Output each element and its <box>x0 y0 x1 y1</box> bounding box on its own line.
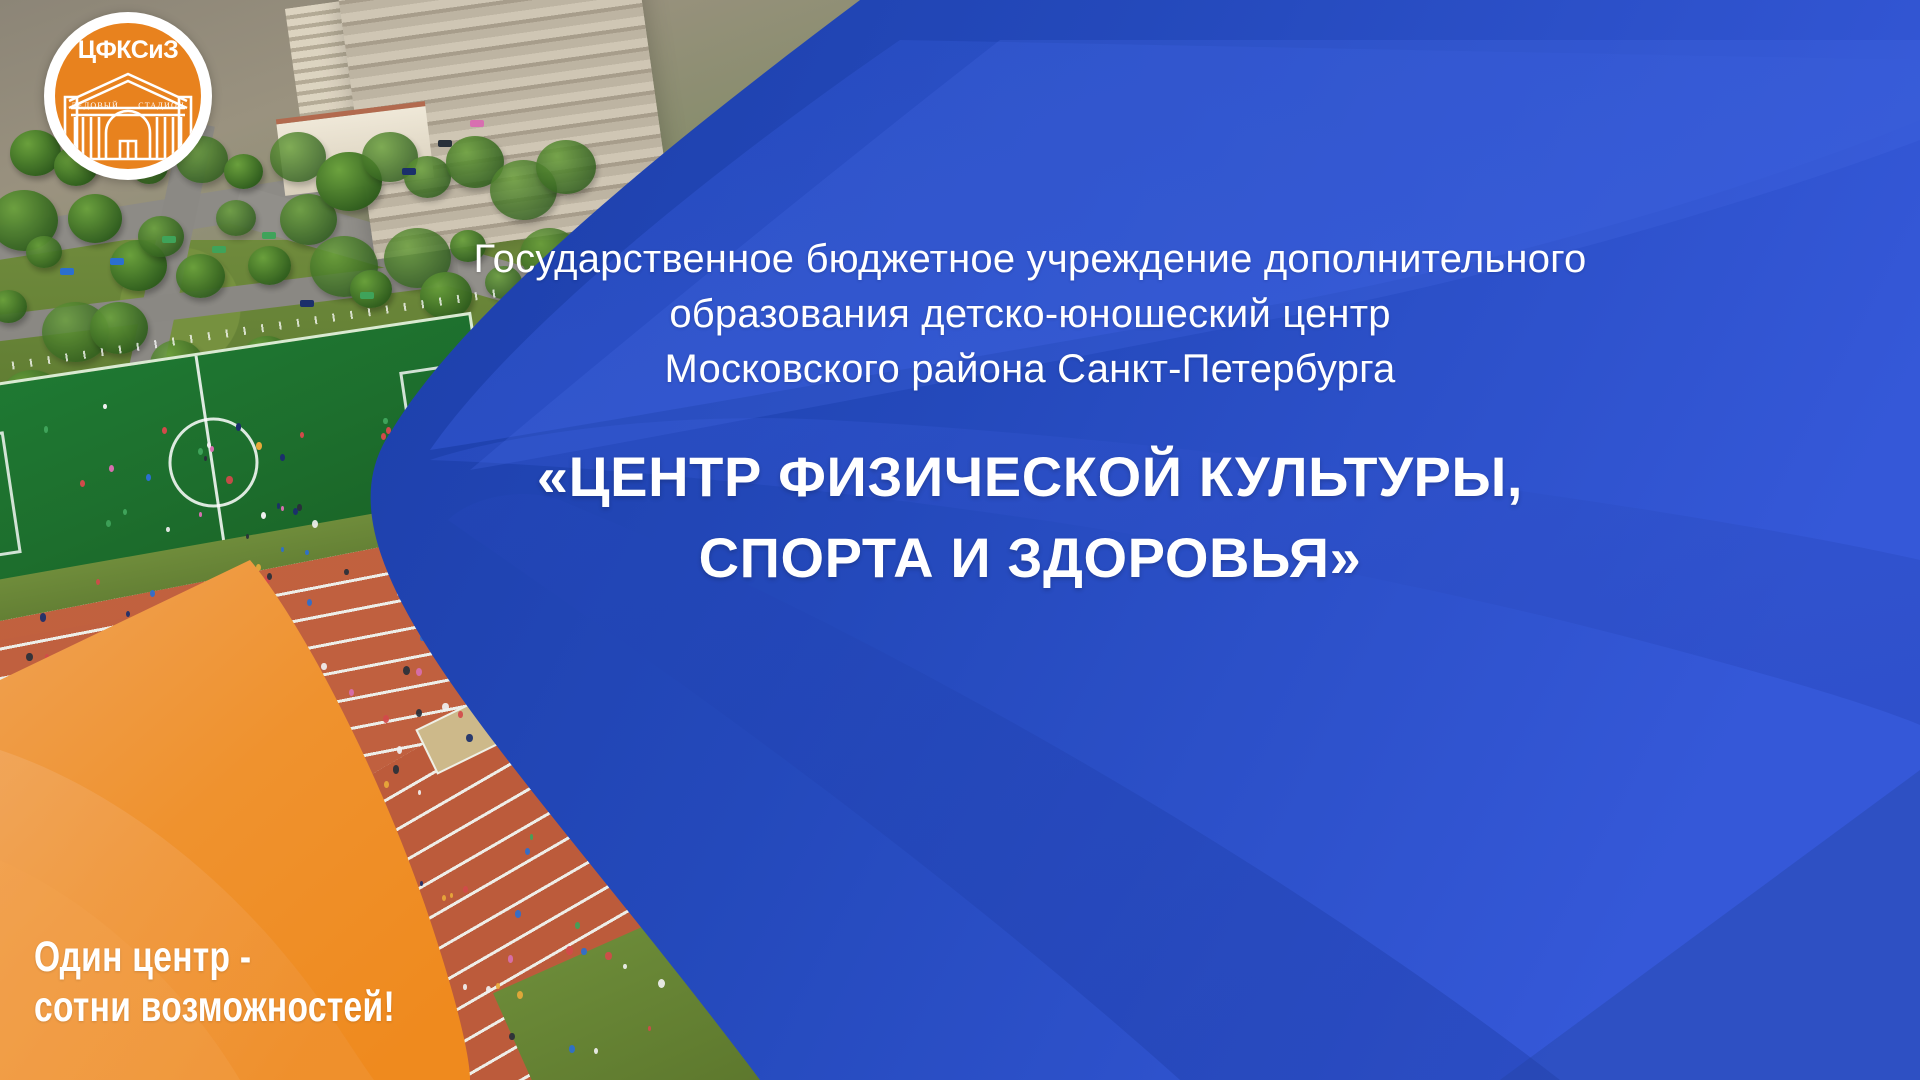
tagline-line-2: сотни возможностей! <box>34 983 395 1032</box>
stadium-building-icon <box>61 67 195 165</box>
title-line-2: СПОРТА И ЗДОРОВЬЯ» <box>430 517 1630 599</box>
logo-circle: ЦФКСиЗ <box>55 23 201 169</box>
tagline-line-1: Один центр - <box>34 933 395 982</box>
title-line-1: «ЦЕНТР ФИЗИЧЕСКОЙ КУЛЬТУРЫ, <box>430 436 1630 518</box>
slide-text-block: Государственное бюджетное учреждение доп… <box>430 232 1630 599</box>
organization-logo: ЦФКСиЗ <box>44 12 212 180</box>
slogan-text: Один центр - сотни возможностей! <box>34 933 395 1032</box>
penalty-box-left <box>0 431 22 564</box>
logo-caption-right: СТАДИОН <box>138 101 185 110</box>
logo-caption-left: ЛЕДОВЫЙ <box>71 101 119 110</box>
page-title: «ЦЕНТР ФИЗИЧЕСКОЙ КУЛЬТУРЫ, СПОРТА И ЗДО… <box>430 436 1630 600</box>
subtitle-line-3: Московского района Санкт-Петербурга <box>430 342 1630 397</box>
subtitle-line-2: образования детско-юношеский центр <box>430 287 1630 342</box>
subtitle-line-1: Государственное бюджетное учреждение доп… <box>430 232 1630 287</box>
presentation-slide: ЦФКСиЗ <box>0 0 1920 1080</box>
organization-subtitle: Государственное бюджетное учреждение доп… <box>430 232 1630 398</box>
logo-acronym: ЦФКСиЗ <box>55 36 201 65</box>
logo-caption: ЛЕДОВЫЙ СТАДИОН <box>55 101 201 110</box>
